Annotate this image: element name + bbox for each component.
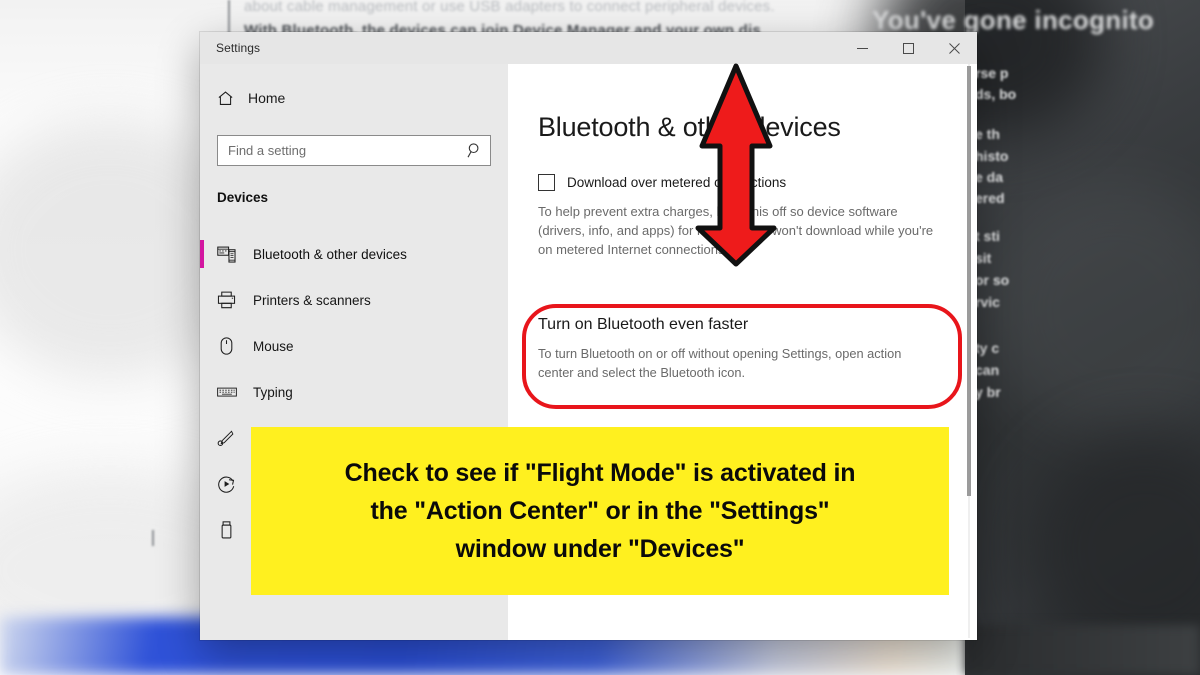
- banner-line: window under "Devices": [345, 530, 856, 568]
- background-rule: [228, 0, 230, 34]
- sidebar-item-home[interactable]: Home: [200, 82, 508, 114]
- background-dark-line: y br: [975, 384, 1001, 400]
- background-article-line: about cable management or use USB adapte…: [244, 0, 775, 15]
- background-dark-line: ered: [975, 190, 1005, 206]
- mouse-icon: [217, 337, 247, 355]
- sidebar-group-heading: Devices: [217, 190, 508, 205]
- sidebar-item-bluetooth-other-devices[interactable]: Bluetooth & other devices: [200, 231, 508, 277]
- pen-icon: [217, 429, 247, 447]
- keyboard-icon: [217, 383, 247, 401]
- bluetooth-faster-title: Turn on Bluetooth even faster: [538, 316, 958, 334]
- instruction-banner: Check to see if "Flight Mode" is activat…: [251, 427, 949, 595]
- banner-line: the "Action Center" or in the "Settings": [345, 492, 856, 530]
- selection-accent-bar: [200, 240, 204, 268]
- background-dark-line: histo: [975, 148, 1008, 164]
- red-down-arrow: [686, 60, 786, 270]
- sidebar-item-label: Bluetooth & other devices: [253, 247, 407, 262]
- sidebar-item-label: Printers & scanners: [253, 293, 371, 308]
- content-scrollbar-thumb[interactable]: [967, 66, 971, 496]
- home-icon: [217, 90, 243, 107]
- background-dark-line: e da: [975, 169, 1003, 185]
- instruction-banner-text: Check to see if "Flight Mode" is activat…: [321, 454, 880, 568]
- background-dark-line: rse p: [975, 65, 1008, 81]
- background-rule: [152, 530, 154, 546]
- background-dark-line: or so: [975, 272, 1009, 288]
- window-title: Settings: [216, 41, 260, 55]
- sidebar-item-label: Mouse: [253, 339, 294, 354]
- minimize-button[interactable]: [839, 32, 885, 64]
- bluetooth-faster-description: To turn Bluetooth on or off without open…: [538, 344, 936, 382]
- sidebar-item-label: Typing: [253, 385, 293, 400]
- background-dark-line: rvic: [975, 294, 1000, 310]
- sidebar-item-printers-scanners[interactable]: Printers & scanners: [200, 277, 508, 323]
- background-dark-line: ds, bo: [975, 86, 1016, 102]
- sidebar-item-mouse[interactable]: Mouse: [200, 323, 508, 369]
- bluetooth-faster-card: Turn on Bluetooth even faster To turn Bl…: [538, 316, 958, 382]
- metered-checkbox[interactable]: [538, 174, 555, 191]
- printer-icon: [217, 291, 247, 309]
- usb-icon: [217, 521, 247, 539]
- window-titlebar[interactable]: Settings: [200, 32, 977, 64]
- bluetooth-devices-icon: [217, 245, 247, 263]
- search-input[interactable]: Find a setting: [217, 135, 491, 166]
- background-dark-bottom: [965, 625, 1200, 675]
- search-icon[interactable]: [466, 142, 482, 164]
- sidebar-item-typing[interactable]: Typing: [200, 369, 508, 415]
- background-dark-line: can: [975, 362, 999, 378]
- close-button[interactable]: [931, 32, 977, 64]
- background-dark-line: ty c: [975, 340, 999, 356]
- maximize-button[interactable]: [885, 32, 931, 64]
- background-dark-line: t sti: [975, 228, 1000, 244]
- sidebar-item-home-label: Home: [248, 90, 285, 106]
- background-dark-line: sit: [975, 250, 991, 266]
- autoplay-icon: [217, 475, 247, 493]
- banner-line: Check to see if "Flight Mode" is activat…: [345, 454, 856, 492]
- search-placeholder: Find a setting: [228, 143, 306, 158]
- background-dark-line: e th: [975, 126, 1000, 142]
- window-controls: [839, 32, 977, 64]
